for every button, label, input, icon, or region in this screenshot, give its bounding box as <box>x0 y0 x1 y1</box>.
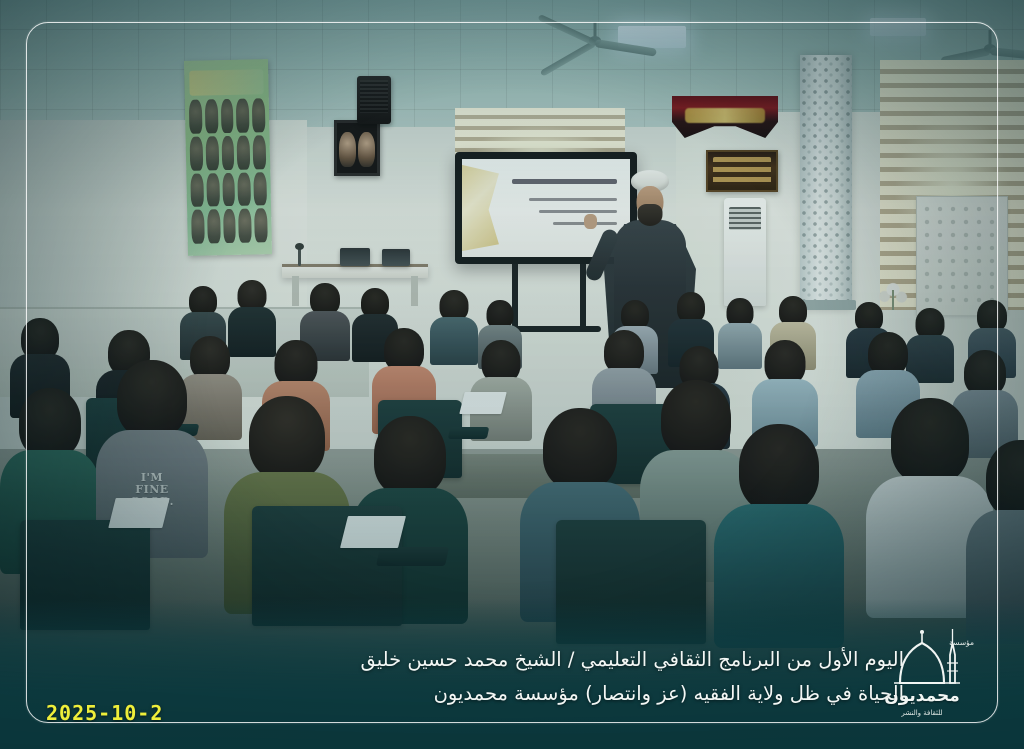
wall-speaker <box>357 76 391 124</box>
poster-canvas: I'M FINE GOOD. <box>0 0 1024 749</box>
lattice-pattern <box>922 204 1001 308</box>
panel-calligraphy-rows <box>713 157 770 184</box>
attendee-head <box>891 398 969 484</box>
ceiling-fan <box>525 22 665 62</box>
valance-calligraphy <box>685 108 766 123</box>
ceiling-light-panel <box>870 18 926 36</box>
organization-logo: مؤسسة محمديون للثقافة والنشر <box>866 621 978 717</box>
caption-line-2: الحياة في ظل ولاية الفقيه (عز وانتصار) م… <box>60 677 904 711</box>
notepaper <box>459 392 506 414</box>
dual-portrait-frame <box>334 120 380 176</box>
attendee-body <box>714 504 844 648</box>
lecture-chair <box>20 520 150 630</box>
attendee-head <box>249 396 325 480</box>
slide-decoration <box>462 165 499 251</box>
fan-blade <box>990 47 1024 60</box>
attendee-head <box>986 440 1024 518</box>
logo-prefix: مؤسسة <box>949 638 974 647</box>
desk-microphone <box>298 248 301 266</box>
logo-subtitle: للثقافة والنشر <box>866 709 978 717</box>
caption-block: اليوم الأول من البرنامج الثقافي التعليمي… <box>60 643 904 711</box>
attendee-head <box>275 340 318 387</box>
banner-portrait-grid <box>189 98 268 244</box>
desk-leg <box>411 276 418 306</box>
notepaper <box>108 498 169 528</box>
calligraphy-panel <box>706 150 778 192</box>
attendee-head <box>543 408 617 490</box>
floor-ac-unit <box>724 198 766 306</box>
portrait-right <box>358 132 375 167</box>
attendee-head <box>117 360 187 438</box>
front-desk <box>282 264 428 278</box>
event-date-badge: 2025-10-2 <box>38 699 171 727</box>
plant-stem <box>892 290 894 310</box>
presenter-hand <box>584 214 597 229</box>
laptop <box>340 248 370 266</box>
ac-vent <box>729 207 761 231</box>
notepaper <box>340 516 406 548</box>
lattice-wall-panel <box>916 196 1008 316</box>
portrait-left <box>339 132 356 167</box>
attendee <box>966 440 1024 640</box>
logo-wordmark: محمديون <box>866 686 978 706</box>
ceiling-fan <box>930 30 1024 64</box>
attendee <box>714 424 844 638</box>
fan-blade <box>594 39 656 57</box>
speaker-mesh <box>360 80 387 114</box>
chair-writing-tablet <box>376 547 449 566</box>
attendee-head <box>19 388 81 458</box>
laptop <box>382 249 410 266</box>
desk-leg <box>292 276 299 306</box>
presenter-beard <box>638 204 663 226</box>
lecture-chair <box>556 520 706 644</box>
banner-header-band <box>189 69 263 96</box>
attendee-head <box>374 416 446 496</box>
column-mosaic-pattern <box>800 55 852 310</box>
caption-line-1: اليوم الأول من البرنامج الثقافي التعليمي… <box>60 643 904 677</box>
martyr-portraits-banner <box>184 59 272 256</box>
mosaic-column <box>800 55 852 310</box>
attendee-head <box>739 424 819 512</box>
